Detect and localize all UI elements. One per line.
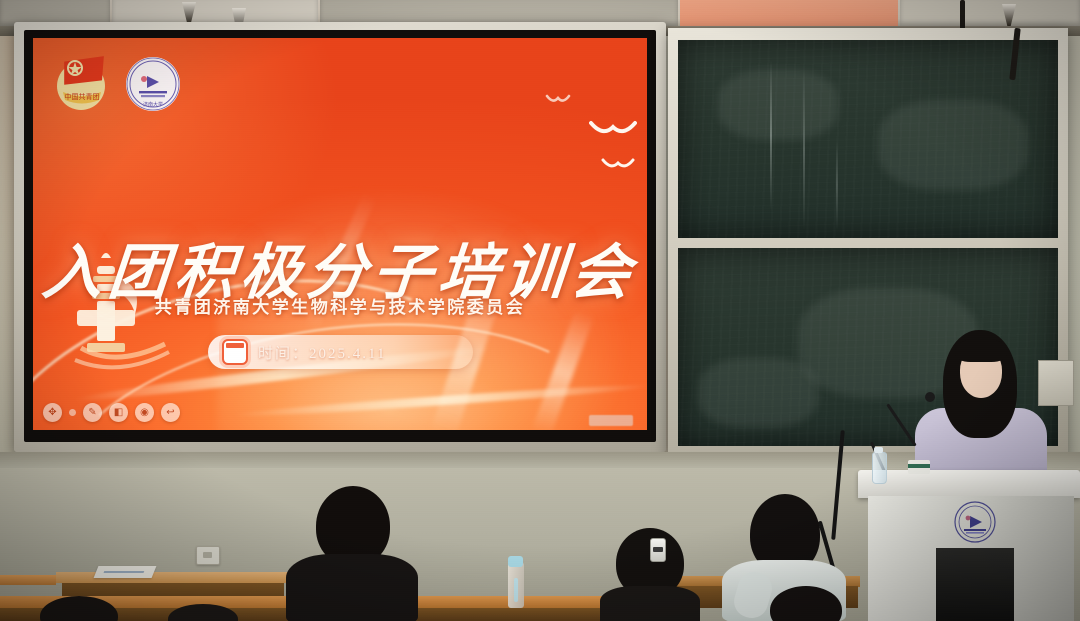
lectern-top: [858, 470, 1080, 498]
flying-bird-icon: [601, 158, 635, 179]
pen-icon[interactable]: ✎: [83, 403, 102, 422]
communist-youth-league-emblem: 中国共青团: [51, 52, 113, 112]
audience-person: [760, 586, 856, 621]
paper-line: [104, 571, 145, 573]
chalk-streak: [803, 70, 805, 230]
power-outlet: [196, 546, 220, 565]
slide-subtitle: 共青团济南大学生物科学与技术学院委员会: [33, 293, 647, 318]
bottle-cap: [508, 556, 523, 567]
person-head: [168, 604, 238, 621]
calendar-icon: [222, 339, 248, 365]
eraser-icon[interactable]: ◧: [109, 403, 128, 422]
undo-icon[interactable]: ↩: [161, 403, 180, 422]
chalk-smear: [718, 70, 838, 140]
bottle-cap: [874, 447, 883, 453]
classroom-photo: 中国共青团 济南大学: [0, 0, 1080, 621]
ceiling-panel-warm: [680, 0, 898, 28]
flying-bird-icon: [545, 94, 571, 112]
cup-band: [908, 464, 930, 468]
desk-surface: [0, 575, 56, 585]
annotation-toolbar[interactable]: ✥ ✎ ◧ ◉ ↩: [43, 403, 180, 422]
svg-text:中国共青团: 中国共青团: [65, 92, 100, 101]
spotlight-icon[interactable]: ◉: [135, 403, 154, 422]
chalk-smear: [878, 100, 1028, 190]
flying-bird-icon: [589, 120, 637, 147]
audience-person: [36, 596, 122, 621]
chalk-streak: [770, 60, 772, 210]
desk-surface: [56, 572, 288, 583]
svg-text:济南大学: 济南大学: [143, 101, 163, 108]
pointer-icon[interactable]: ✥: [43, 403, 62, 422]
audience-person: [286, 486, 416, 621]
person-head: [770, 586, 842, 621]
slide-date-text: 时间：2025.4.11: [258, 342, 386, 363]
play-icon[interactable]: [69, 409, 76, 416]
chalk-streak: [836, 140, 838, 230]
phone-device: [650, 538, 666, 562]
university-of-jinan-emblem: [953, 500, 997, 544]
microphone-head: [925, 392, 935, 402]
slide-watermark: [589, 415, 633, 426]
bottle-strap: [514, 578, 518, 602]
person-torso: [286, 554, 418, 621]
water-bottle: [872, 452, 887, 484]
chalk-smear: [698, 358, 818, 428]
person-head: [40, 596, 118, 621]
university-of-jinan-emblem: 济南大学: [125, 56, 181, 112]
presenter-fringe: [955, 338, 1007, 362]
presentation-slide[interactable]: 中国共青团 济南大学: [33, 38, 647, 430]
ceiling-panel: [900, 0, 1080, 28]
chalkboard-panel-top: [678, 40, 1058, 238]
slide-date-badge: 时间：2025.4.11: [208, 335, 473, 369]
lectern-recess: [936, 548, 1014, 621]
person-torso: [600, 586, 700, 621]
audience-person: [168, 604, 238, 621]
lectern: [858, 470, 1080, 621]
